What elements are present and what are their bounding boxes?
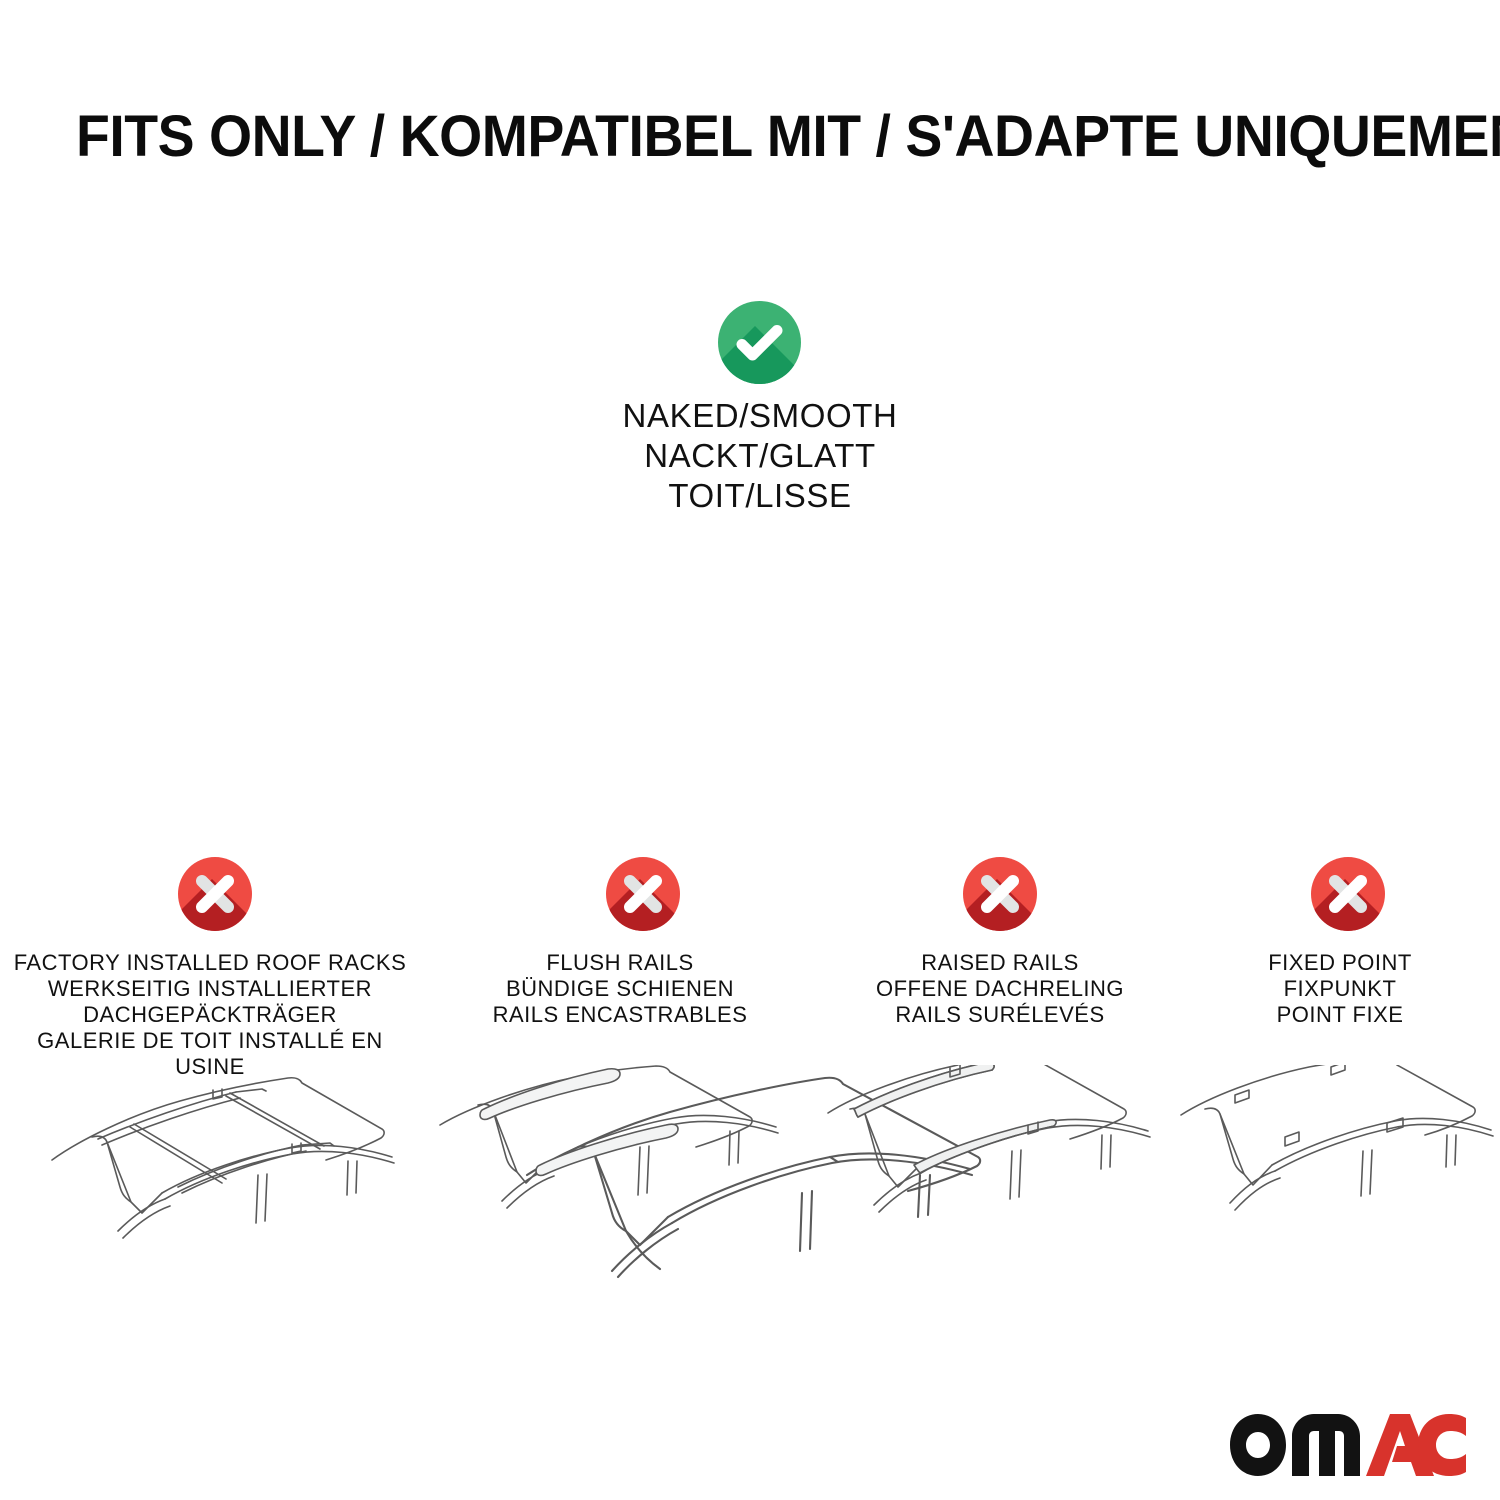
- x-circle-icon: [606, 857, 680, 931]
- x-circle-icon: [963, 857, 1037, 931]
- label-line-2: BÜNDIGE SCHIENEN: [428, 976, 812, 1002]
- car-roof-fixed-point-illustration: [1175, 1065, 1500, 1270]
- label-line-2: WERKSEITIG INSTALLIERTER: [10, 976, 410, 1002]
- x-circle-icon: [178, 857, 252, 931]
- omac-logo: [1228, 1412, 1468, 1480]
- label-line-3: POINT FIXE: [1180, 1002, 1500, 1028]
- incompatible-label: FLUSH RAILS BÜNDIGE SCHIENEN RAILS ENCAS…: [428, 950, 812, 1028]
- incompatible-column-raised-rails: RAISED RAILS OFFENE DACHRELING RAILS SUR…: [820, 0, 1180, 1500]
- car-roof-raised-rails-illustration: [810, 1065, 1200, 1270]
- incompatible-label: FACTORY INSTALLED ROOF RACKS WERKSEITIG …: [10, 950, 410, 1080]
- label-line-1: FACTORY INSTALLED ROOF RACKS: [10, 950, 410, 976]
- car-roof-factory-rack-illustration: [30, 1065, 420, 1270]
- label-line-2: FIXPUNKT: [1180, 976, 1500, 1002]
- incompatible-label: RAISED RAILS OFFENE DACHRELING RAILS SUR…: [820, 950, 1180, 1028]
- x-circle-icon: [1311, 857, 1385, 931]
- label-line-3: DACHGEPÄCKTRÄGER: [10, 1002, 410, 1028]
- car-roof-flush-rails-illustration: [430, 1065, 820, 1270]
- label-line-3: RAILS ENCASTRABLES: [428, 1002, 812, 1028]
- label-line-1: FIXED POINT: [1180, 950, 1500, 976]
- label-line-3: RAILS SURÉLEVÉS: [820, 1002, 1180, 1028]
- incompatible-column-flush-rails: FLUSH RAILS BÜNDIGE SCHIENEN RAILS ENCAS…: [420, 0, 820, 1500]
- fitment-infographic: FITS ONLY / KOMPATIBEL MIT / S'ADAPTE UN…: [0, 0, 1500, 1500]
- label-line-1: RAISED RAILS: [820, 950, 1180, 976]
- incompatible-column-factory-rack: FACTORY INSTALLED ROOF RACKS WERKSEITIG …: [0, 0, 420, 1500]
- incompatible-column-fixed-point: FIXED POINT FIXPUNKT POINT FIXE: [1180, 0, 1500, 1500]
- label-line-2: OFFENE DACHRELING: [820, 976, 1180, 1002]
- label-line-1: FLUSH RAILS: [428, 950, 812, 976]
- incompatible-label: FIXED POINT FIXPUNKT POINT FIXE: [1180, 950, 1500, 1028]
